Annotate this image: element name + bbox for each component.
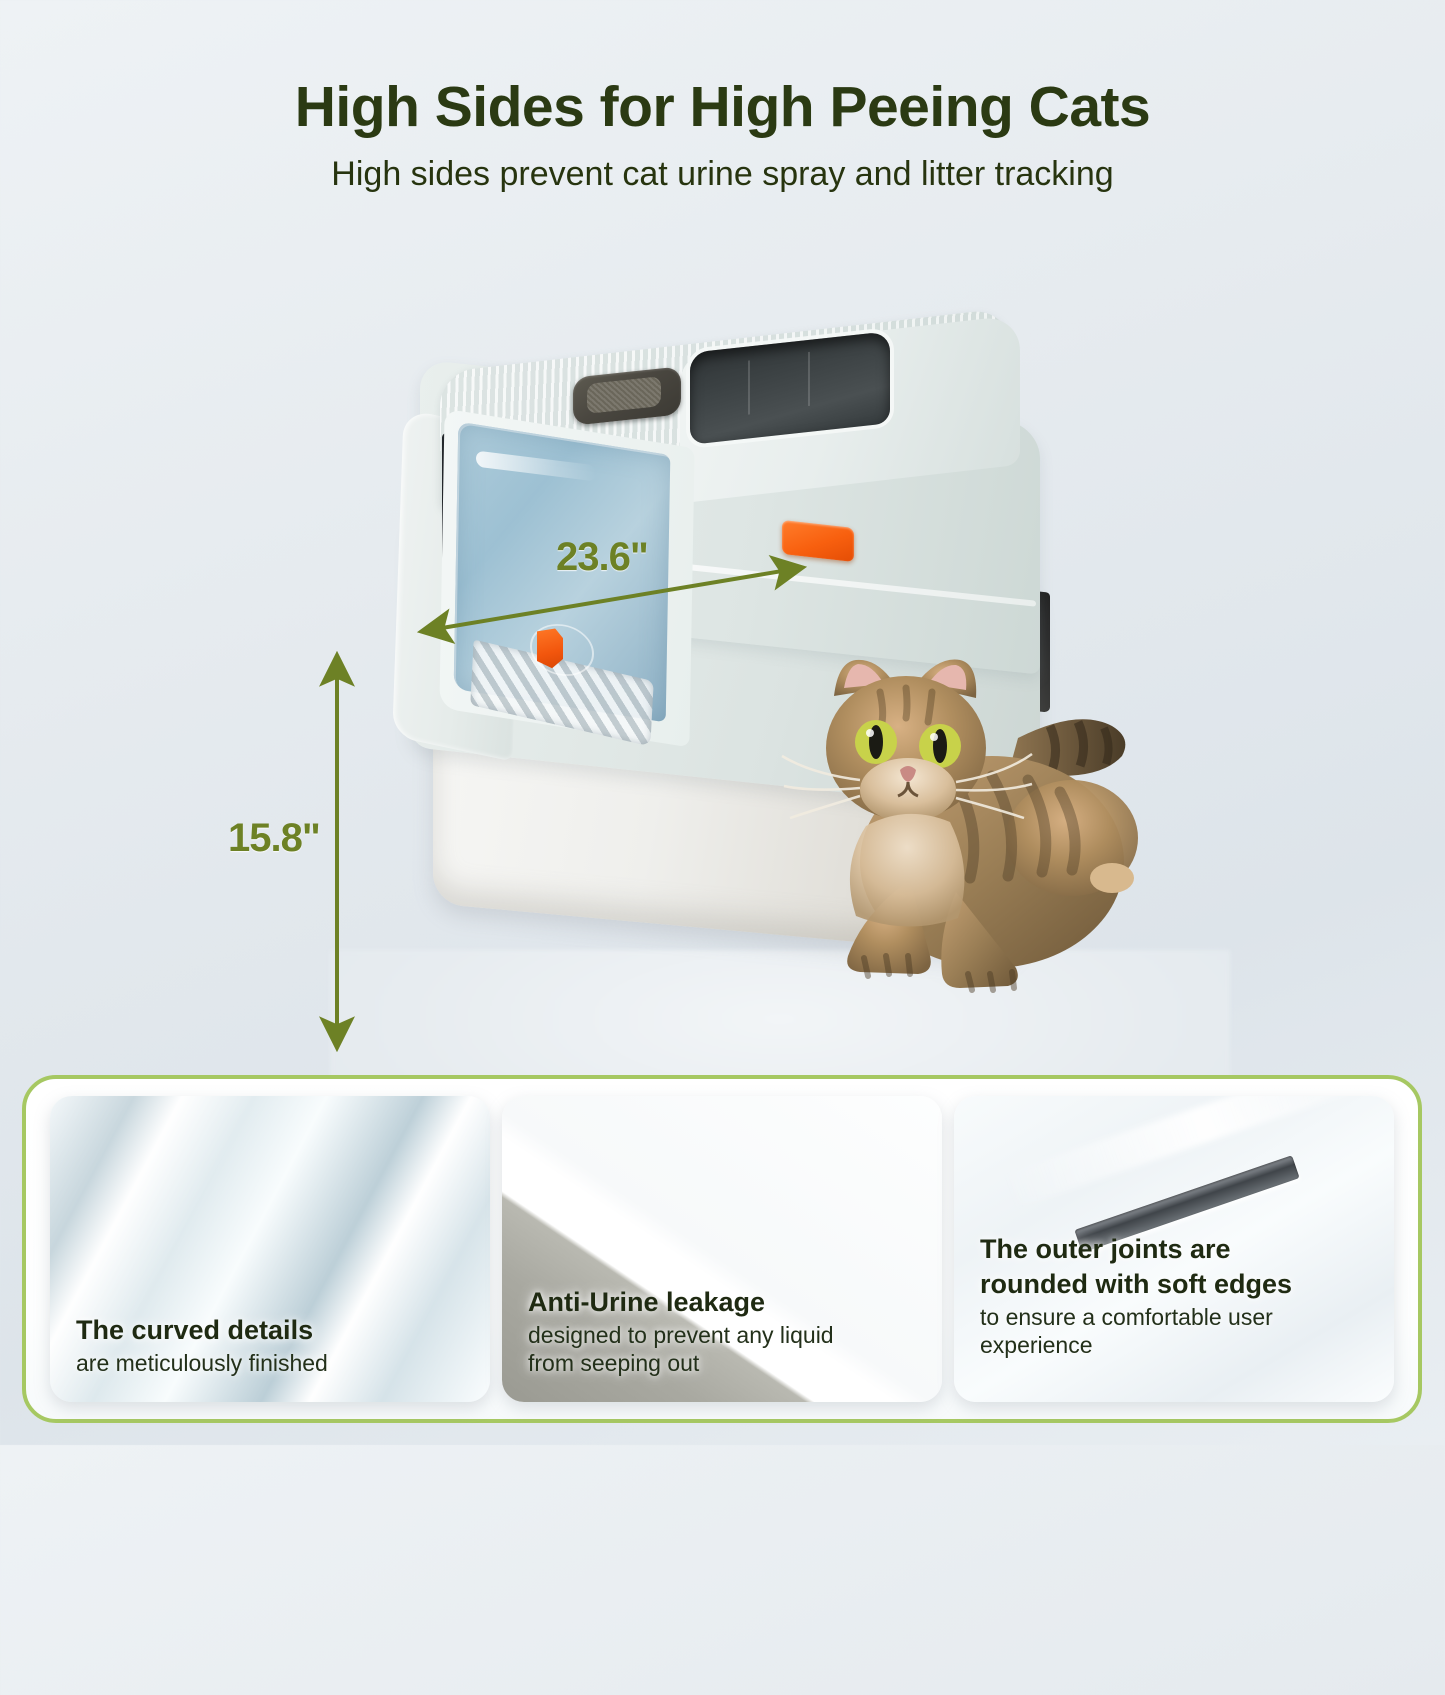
cat-rear-paw (1090, 863, 1134, 893)
card-text-block: The curved details are meticulously fini… (76, 1315, 472, 1378)
infographic-canvas: High Sides for High Peeing Cats High sid… (0, 0, 1445, 1445)
card-subtext-line2: experience (980, 1331, 1376, 1360)
card-subtext: are meticulously finished (76, 1349, 472, 1378)
page-title: High Sides for High Peeing Cats (0, 78, 1445, 138)
card-subtext-line1: designed to prevent any liquid (528, 1321, 924, 1350)
card-subtext-line2: from seeping out (528, 1349, 924, 1378)
header-block: High Sides for High Peeing Cats High sid… (0, 78, 1445, 193)
card-text-block: Anti-Urine leakage designed to prevent a… (528, 1287, 924, 1378)
cat-chest (850, 814, 964, 927)
feature-card-curved-details[interactable]: The curved details are meticulously fini… (50, 1096, 490, 1402)
feature-card-rounded-joints[interactable]: The outer joints are rounded with soft e… (954, 1096, 1394, 1402)
feature-card-anti-urine-leakage[interactable]: Anti-Urine leakage designed to prevent a… (502, 1096, 942, 1402)
card-heading-line1: The outer joints are (980, 1234, 1376, 1265)
feature-panel: The curved details are meticulously fini… (22, 1075, 1422, 1423)
card-heading: Anti-Urine leakage (528, 1287, 924, 1318)
card-subtext-line1: to ensure a comfortable user (980, 1303, 1376, 1332)
card-heading: The curved details (76, 1315, 472, 1346)
height-dimension-label: 15.8" (228, 816, 320, 861)
card-heading-line2: rounded with soft edges (980, 1269, 1376, 1300)
product-scene: 23.6" 15.8" 15.8" (0, 250, 1445, 1050)
card-text-block: The outer joints are rounded with soft e… (980, 1234, 1376, 1360)
page-subtitle: High sides prevent cat urine spray and l… (0, 156, 1445, 193)
tabby-cat-photo (760, 630, 1160, 1030)
width-dimension-label: 23.6" (556, 535, 648, 580)
